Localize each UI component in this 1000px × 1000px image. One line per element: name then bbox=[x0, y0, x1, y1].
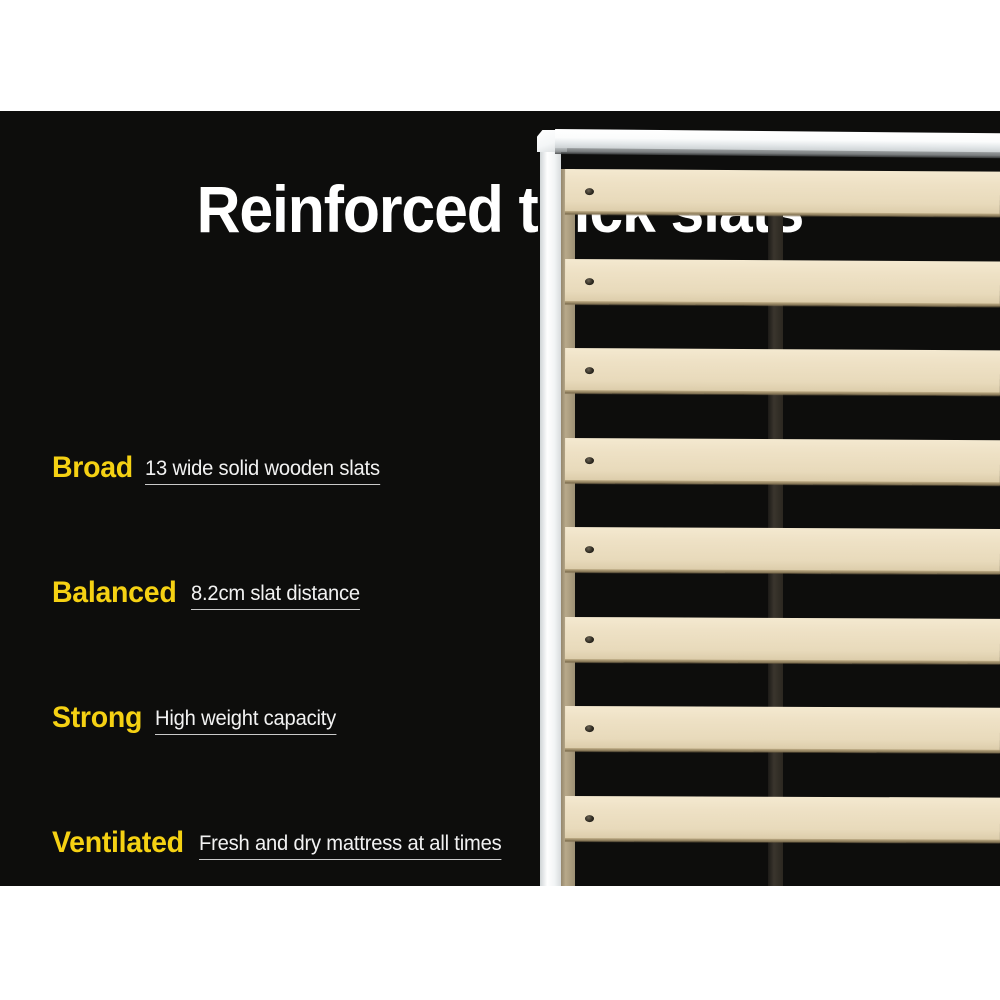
wooden-slat bbox=[565, 348, 1000, 395]
slat-screw bbox=[585, 188, 594, 195]
feature-list: Broad 13 wide solid wooden slats Balance… bbox=[52, 360, 532, 860]
slat-screw bbox=[585, 725, 594, 732]
corner-post bbox=[540, 141, 561, 886]
feature-row-strong: Strong High weight capacity bbox=[52, 610, 532, 735]
product-photo-bed-slats bbox=[510, 111, 1000, 886]
feature-row-balanced: Balanced 8.2cm slat distance bbox=[52, 485, 532, 610]
wooden-slat bbox=[565, 169, 1000, 217]
top-white-margin bbox=[0, 0, 1000, 111]
wooden-slat bbox=[565, 617, 1000, 664]
feature-label-strong: Strong bbox=[52, 701, 142, 735]
wooden-slat bbox=[565, 527, 1000, 574]
feature-desc-ventilated: Fresh and dry mattress at all times bbox=[199, 831, 502, 860]
feature-label-balanced: Balanced bbox=[52, 576, 176, 610]
feature-row-ventilated: Ventilated Fresh and dry mattress at all… bbox=[52, 735, 532, 860]
feature-row-broad: Broad 13 wide solid wooden slats bbox=[52, 360, 532, 485]
feature-label-ventilated: Ventilated bbox=[52, 826, 184, 860]
wooden-slat bbox=[565, 796, 1000, 843]
feature-desc-broad: 13 wide solid wooden slats bbox=[145, 456, 380, 485]
slat-screw bbox=[585, 636, 594, 643]
wooden-slat bbox=[565, 438, 1000, 485]
slat-screw bbox=[585, 278, 594, 285]
wooden-slat bbox=[565, 706, 1000, 753]
wooden-slat bbox=[565, 259, 1000, 307]
feature-label-broad: Broad bbox=[52, 451, 133, 485]
product-feature-graphic: Reinforced thick slats Broad 13 wide sol… bbox=[0, 0, 1000, 1000]
slat-screw bbox=[585, 457, 594, 464]
feature-desc-strong: High weight capacity bbox=[155, 706, 336, 735]
feature-desc-balanced: 8.2cm slat distance bbox=[191, 581, 360, 610]
slat-screw bbox=[585, 367, 594, 374]
hero-panel: Reinforced thick slats Broad 13 wide sol… bbox=[0, 111, 1000, 886]
slat-screw bbox=[585, 546, 594, 553]
bottom-white-margin bbox=[0, 886, 1000, 1000]
slat-screw bbox=[585, 815, 594, 822]
